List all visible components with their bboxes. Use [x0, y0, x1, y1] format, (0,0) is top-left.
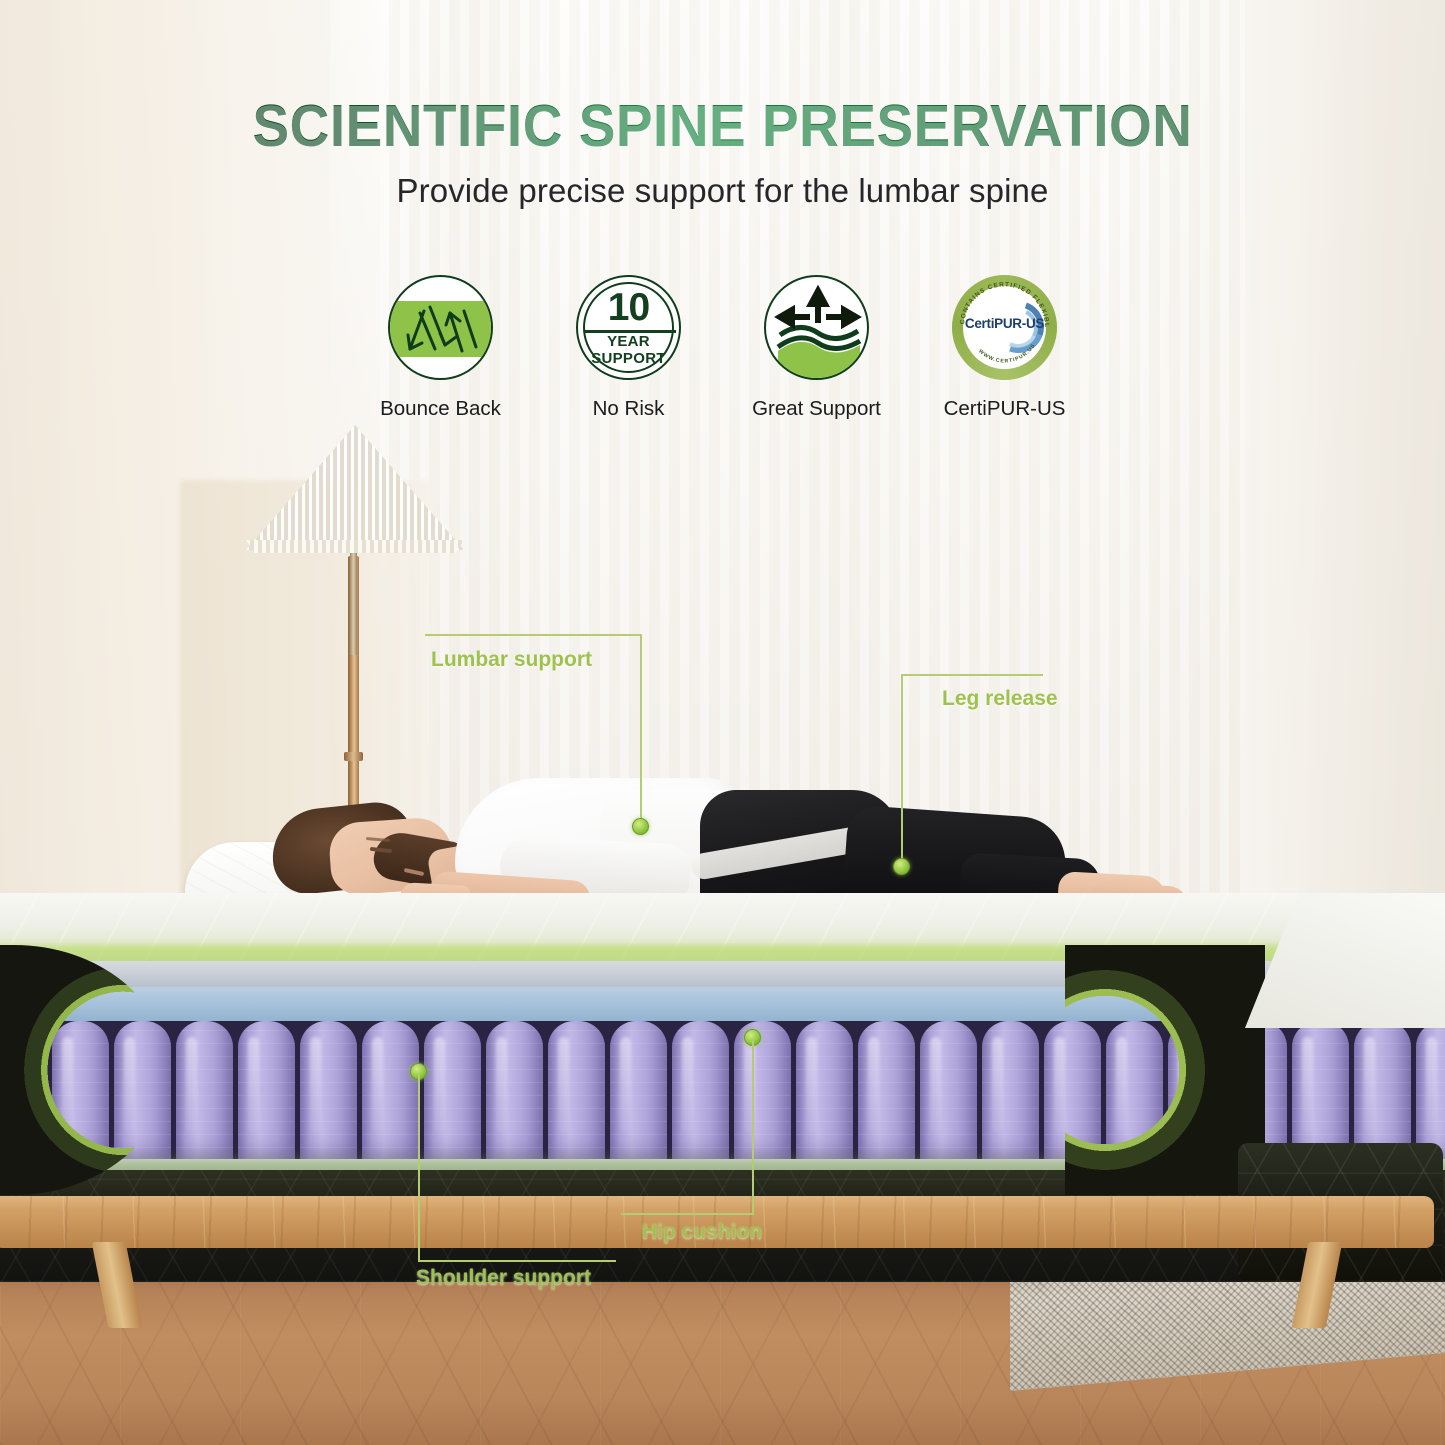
coil — [424, 1021, 481, 1161]
mattress-cutaway — [0, 893, 1445, 1213]
svg-text:WWW.CERTIPUR.US: WWW.CERTIPUR.US — [977, 343, 1037, 365]
lamp-pole-upper — [350, 545, 357, 655]
cutaway-right-end — [1065, 945, 1265, 1195]
badge-label: CertiPUR-US — [944, 397, 1066, 421]
product-infographic: SCIENTIFIC SPINE PRESERVATION Provide pr… — [0, 0, 1445, 1445]
badge-bounce-back: Bounce Back — [347, 275, 535, 421]
lamp-shade-edge — [246, 540, 464, 553]
warranty-line2: SUPPORT — [578, 350, 679, 367]
coil — [1354, 1021, 1411, 1161]
badge-no-risk: 10 YEAR SUPPORT No Risk — [535, 275, 723, 421]
lumbar-leader-vertical — [640, 634, 642, 826]
coil — [300, 1021, 357, 1161]
badge-great-support: Great Support — [723, 275, 911, 421]
hip-cushion-leader-vertical — [752, 1040, 754, 1215]
coil — [1416, 1021, 1445, 1161]
shoulder-support-leader-horizontal — [418, 1260, 616, 1262]
coil — [548, 1021, 605, 1161]
callout-leg-release: Leg release — [942, 687, 1058, 711]
coil — [486, 1021, 543, 1161]
bounce-back-icon — [388, 275, 493, 380]
badge-label: No Risk — [593, 397, 665, 421]
leg-release-point-dot — [893, 858, 910, 875]
great-support-icon — [764, 275, 869, 380]
coil — [672, 1021, 729, 1161]
leg-release-leader-horizontal — [901, 674, 1043, 676]
callout-lumbar-support: Lumbar support — [431, 648, 592, 672]
callout-hip-cushion: Hip cushion — [642, 1220, 762, 1244]
badge-certipur: CONTAINS CERTIFIED FLEXIBLE POLYURETHANE… — [911, 275, 1099, 421]
page-subtitle: Provide precise support for the lumbar s… — [0, 172, 1445, 210]
page-title: SCIENTIFIC SPINE PRESERVATION — [51, 92, 1395, 160]
coil — [796, 1021, 853, 1161]
certipur-seal-icon: CONTAINS CERTIFIED FLEXIBLE POLYURETHANE… — [952, 275, 1057, 380]
coil — [610, 1021, 667, 1161]
lumbar-point-dot — [632, 818, 649, 835]
coil — [176, 1021, 233, 1161]
hip-cushion-leader-horizontal — [621, 1213, 753, 1215]
certipur-wordmark: CertiPUR-US — [952, 316, 1057, 331]
lamp-pole-ring — [344, 752, 363, 761]
shoulder-support-leader-vertical — [418, 1074, 420, 1261]
badge-row: Bounce Back 10 YEAR SUPPORT No Risk — [0, 275, 1445, 421]
leg-release-leader-vertical — [901, 674, 903, 866]
coil — [920, 1021, 977, 1161]
warranty-line1: YEAR — [578, 333, 679, 350]
badge-label: Bounce Back — [380, 397, 501, 421]
warranty-years: 10 — [578, 286, 679, 330]
lumbar-leader-horizontal — [425, 634, 641, 636]
callout-shoulder-support: Shoulder support — [416, 1266, 591, 1290]
coil — [1292, 1021, 1349, 1161]
certipur-arc-bottom: WWW.CERTIPUR.US — [977, 343, 1037, 365]
coil — [982, 1021, 1039, 1161]
coil — [858, 1021, 915, 1161]
coil — [734, 1021, 791, 1161]
badge-label: Great Support — [752, 397, 881, 421]
coil — [238, 1021, 295, 1161]
coil — [362, 1021, 419, 1161]
ten-year-support-icon: 10 YEAR SUPPORT — [576, 275, 681, 380]
